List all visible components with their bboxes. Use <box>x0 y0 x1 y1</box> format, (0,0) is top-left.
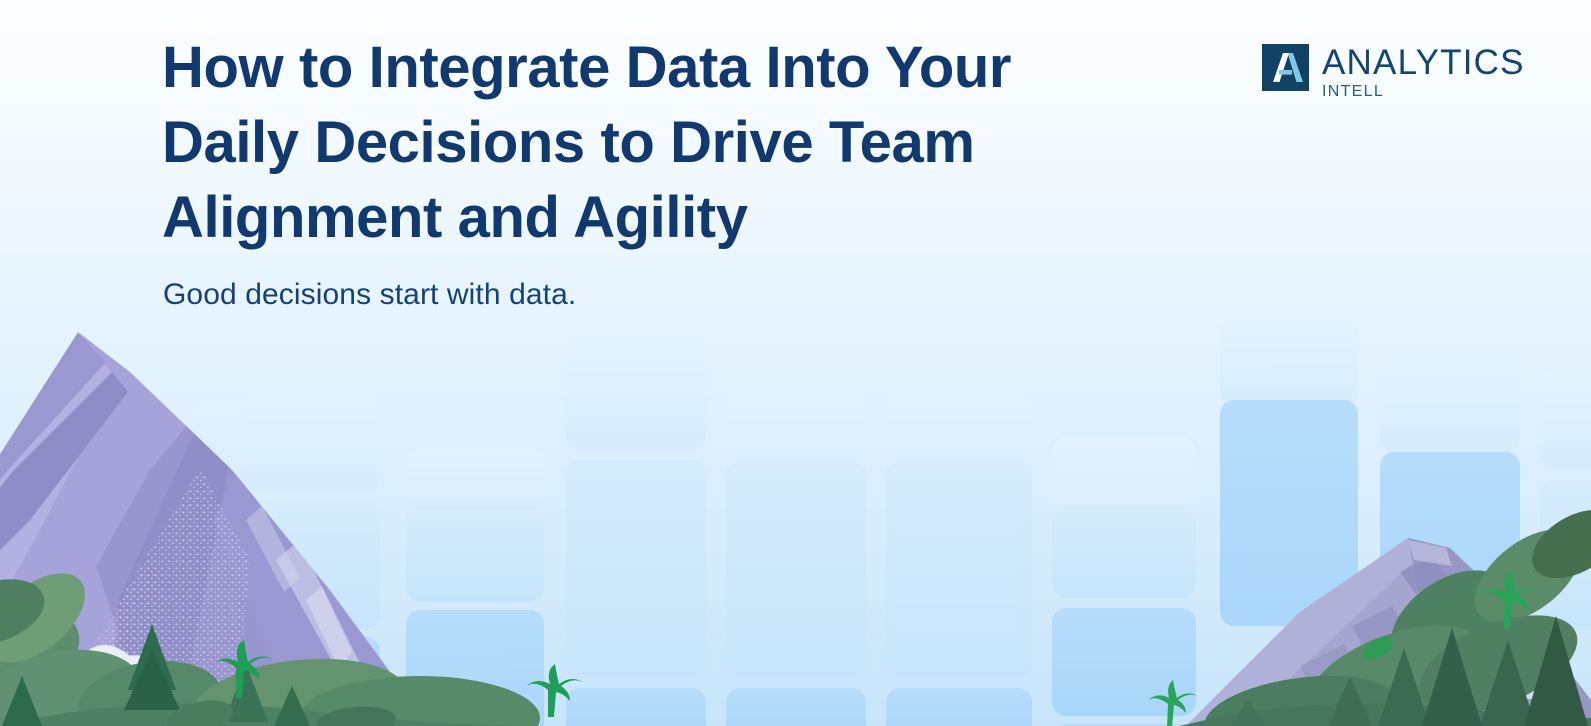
page-title: How to Integrate Data Into Your Daily De… <box>162 30 1122 255</box>
logo-wordmark: ANALYTICS INTELL <box>1322 44 1525 100</box>
logo-mark-icon <box>1262 44 1309 91</box>
logo-primary-text: ANALYTICS <box>1322 45 1525 80</box>
logo-secondary-text: INTELL <box>1322 84 1525 100</box>
page-subtitle: Good decisions start with data. <box>163 275 576 315</box>
promo-banner: How to Integrate Data Into Your Daily De… <box>0 0 1591 726</box>
brand-logo[interactable]: ANALYTICS INTELL <box>1262 44 1525 100</box>
